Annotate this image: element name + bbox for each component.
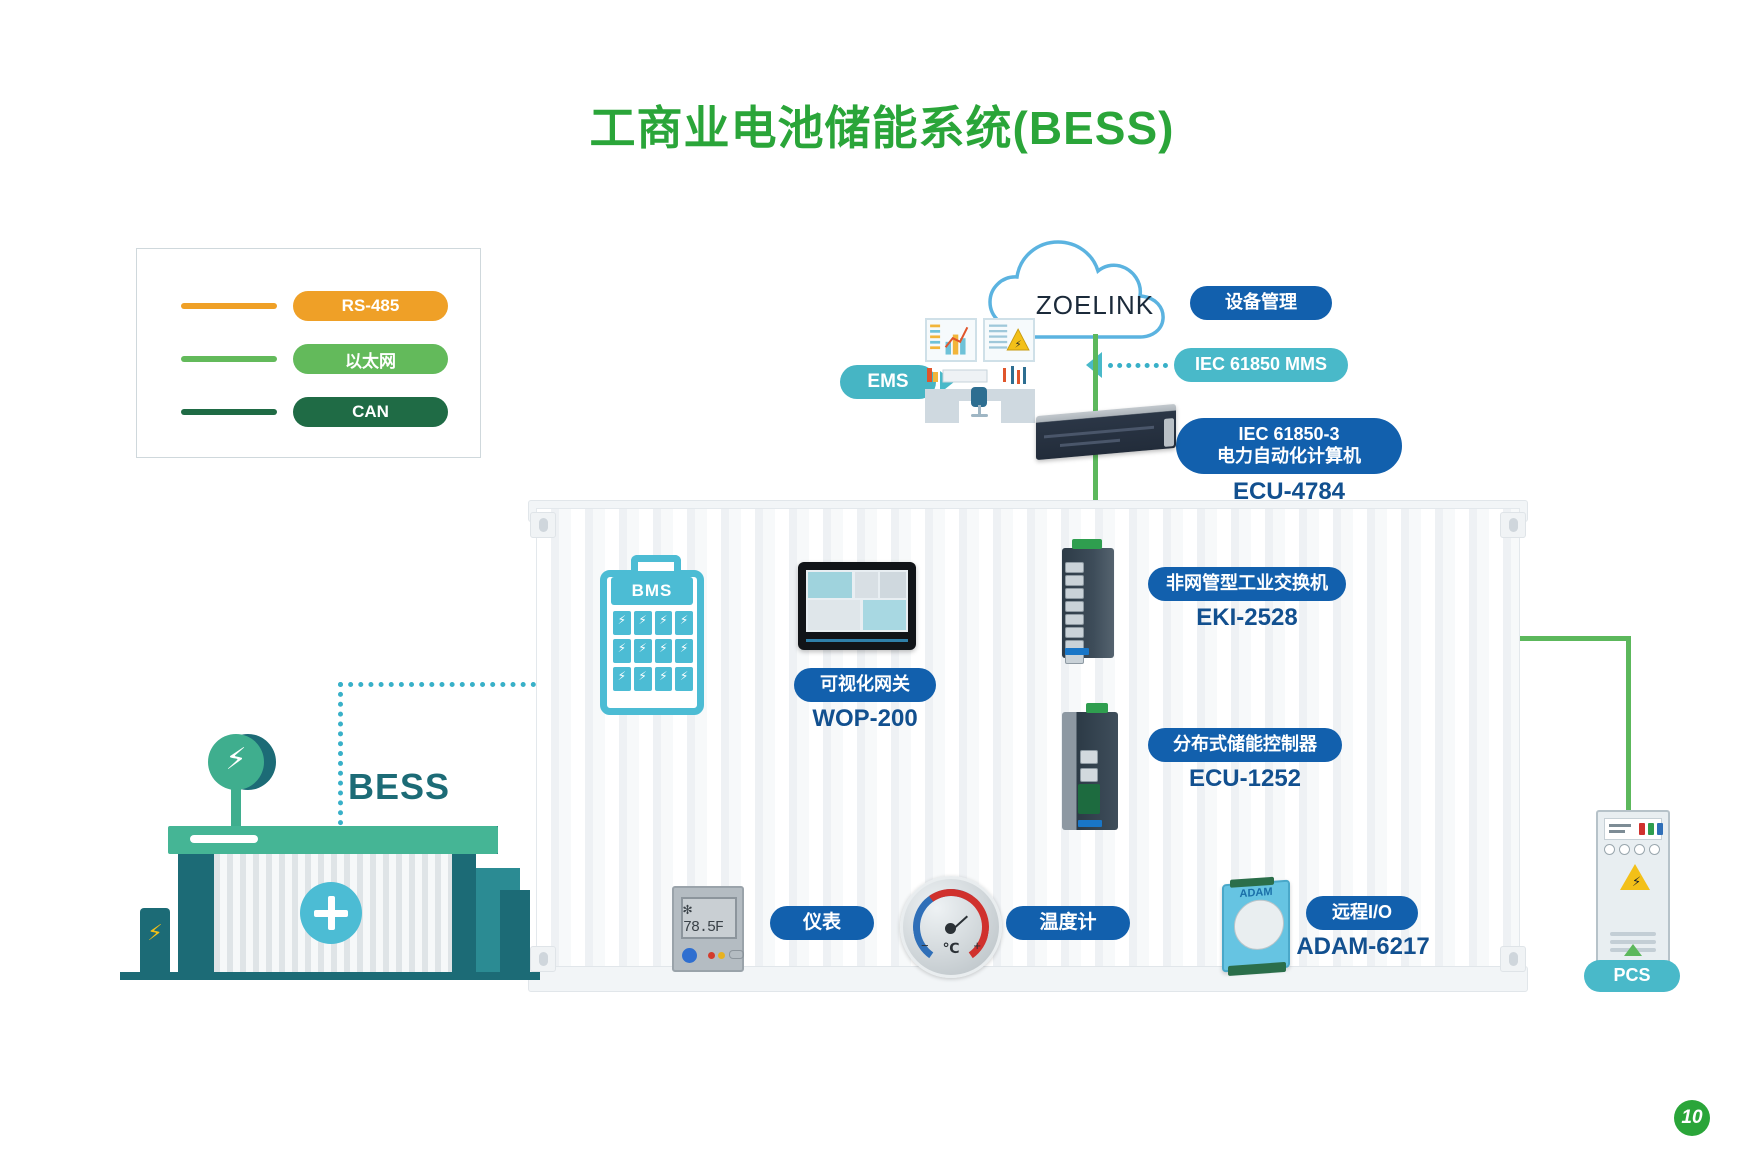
page-number-badge: 10 (1674, 1100, 1710, 1136)
bms-label: BMS (611, 577, 693, 605)
ethernet-switch-to-pcs-v (1626, 636, 1631, 814)
ems-chair-icon (969, 387, 989, 417)
thermometer-gauge: − ℃ + (900, 876, 1002, 978)
eki2528-din-tab (1072, 539, 1102, 549)
thermometer-unit: ℃ (903, 940, 999, 957)
bess-right-column (452, 854, 476, 972)
bess-roof (168, 826, 498, 854)
label-eki2528-pill: 非网管型工业交换机 (1148, 567, 1346, 601)
pcs-warning-icon: ⚡ (1620, 864, 1650, 890)
legend-item-rs485: RS-485 (181, 291, 448, 321)
label-ecu1252-pill: 分布式储能控制器 (1148, 728, 1342, 762)
legend-line-rs485 (181, 303, 277, 309)
label-wop200-pill: 可视化网关 (794, 668, 936, 702)
thermometer-plus-mark: + (973, 938, 981, 953)
thermometer-hub (945, 923, 956, 934)
label-adam6217-pill: 远程I/O (1306, 896, 1418, 930)
legend-label-rs485: RS-485 (293, 291, 448, 321)
label-adam6217-model: ADAM-6217 (1278, 933, 1448, 961)
label-thermometer: 温度计 (1006, 906, 1130, 940)
bess-plant-name: BESS (348, 766, 450, 808)
container-corner-lug-right (1500, 512, 1526, 538)
meter-device: ✻ 78.5F (672, 886, 744, 972)
ecu4784-pill-line2: 电力自动化计算机 (1217, 446, 1361, 468)
legend-panel: RS-485 以太网 CAN (136, 248, 481, 458)
ecu4784-device (1036, 404, 1176, 460)
bess-energy-disc-icon: ⚡ (208, 734, 264, 790)
label-meter: 仪表 (770, 906, 874, 940)
label-ecu4784-pill: IEC 61850-3 电力自动化计算机 (1176, 418, 1402, 474)
container-corner-lug-right-bottom (1500, 946, 1526, 972)
cloud-label: ZOELINK (1035, 290, 1155, 321)
legend-item-ethernet: 以太网 (181, 344, 448, 374)
wop200-screen (806, 570, 908, 632)
adam6217-face (1234, 898, 1284, 951)
label-pcs: PCS (1584, 960, 1680, 992)
label-iec61850-mms: IEC 61850 MMS (1174, 348, 1348, 382)
legend-line-ethernet (181, 356, 277, 362)
container-corner-lug-left-bottom (530, 946, 556, 972)
ecu1252-din-tab (1086, 703, 1108, 713)
meter-reading: ✻ 78.5F (681, 897, 737, 939)
label-ecu1252-model: ECU-1252 (1148, 765, 1342, 793)
bess-charger-post: ⚡ (140, 908, 170, 980)
eki2528-brand-strip (1065, 648, 1089, 655)
ems-chart-screen-icon (925, 318, 977, 362)
bms-cap (631, 555, 681, 571)
bess-plus-icon (300, 882, 362, 944)
ems-alarm-screen-icon: ⚡ (983, 318, 1035, 362)
bess-side-block-2 (500, 890, 530, 972)
ecu1252-device (1062, 712, 1118, 830)
label-device-management: 设备管理 (1190, 286, 1332, 320)
bess-disc-pole (231, 788, 241, 828)
svg-text:⚡: ⚡ (1015, 339, 1022, 350)
bms-cells (613, 611, 693, 691)
container-corner-lug-left (530, 512, 556, 538)
legend-item-can: CAN (181, 397, 448, 427)
mms-dotted-arrow (1108, 363, 1168, 372)
wop200-brand-bar (806, 639, 908, 642)
pcs-cabinet-indicators (1604, 844, 1660, 855)
wop200-device (798, 562, 916, 650)
ems-workstation-illustration: ⚡ (925, 318, 1035, 423)
dotted-link-plant-h (338, 682, 536, 687)
label-eki2528-model: EKI-2528 (1148, 604, 1346, 632)
legend-line-can (181, 409, 277, 415)
bess-ground-line (120, 972, 540, 980)
eki2528-device (1062, 548, 1114, 658)
meter-knob (682, 948, 697, 963)
label-ems: EMS (840, 365, 936, 399)
legend-label-ethernet: 以太网 (293, 344, 448, 374)
label-wop200-model: WOP-200 (790, 705, 940, 733)
pcs-cabinet-head (1604, 818, 1662, 840)
pcs-arrow-icon (1624, 944, 1642, 956)
ecu4784-pill-line1: IEC 61850-3 (1238, 424, 1339, 446)
page-title: 工商业电池储能系统(BESS) (0, 92, 1764, 158)
legend-label-can: CAN (293, 397, 448, 427)
bms-battery-rack: BMS (600, 570, 704, 715)
